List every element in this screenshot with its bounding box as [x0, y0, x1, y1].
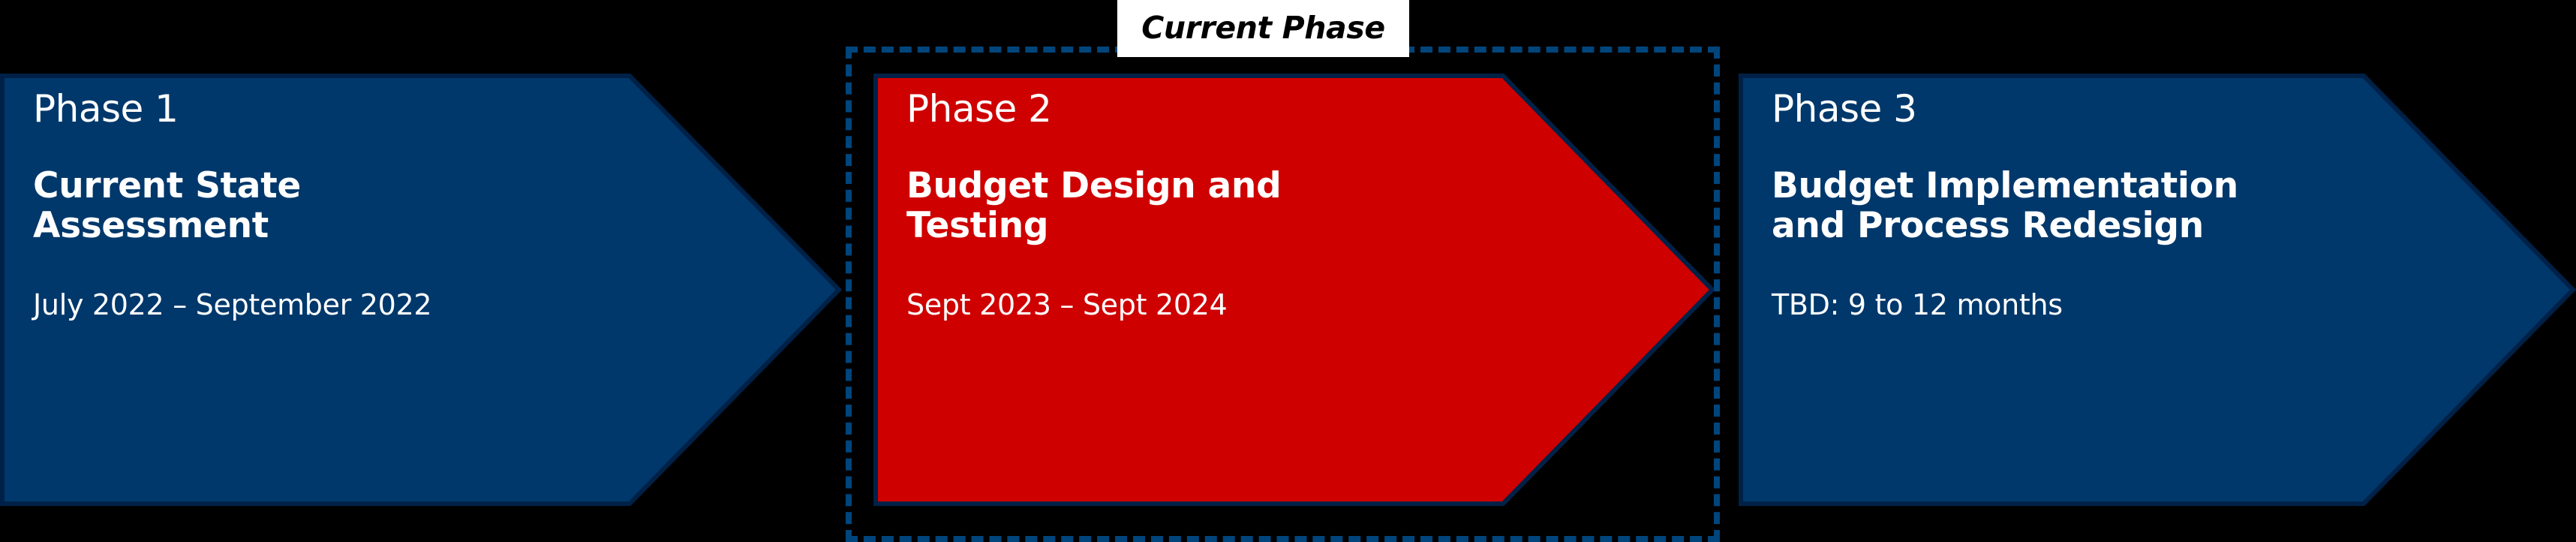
phase-1-title-line-1: Current State	[33, 166, 623, 206]
phase-2-title: Budget Design and Testing	[906, 166, 1496, 245]
phase-3-chevron[interactable]: Phase 3 Budget Implementation and Proces…	[1739, 74, 2576, 506]
phase-2-title-line-1: Budget Design and	[906, 166, 1496, 206]
current-phase-tag-label: Current Phase	[1141, 10, 1385, 46]
phase-1-dates: July 2022 – September 2022	[33, 291, 623, 321]
phase-1-title-line-2: Assessment	[33, 206, 623, 245]
phase-1-content: Phase 1 Current State Assessment July 20…	[0, 74, 623, 506]
phase-1-chevron[interactable]: Phase 1 Current State Assessment July 20…	[0, 74, 842, 506]
phase-1-label: Phase 1	[33, 90, 623, 128]
phase-3-title-line-1: Budget Implementation	[1772, 166, 2361, 206]
phase-3-label: Phase 3	[1772, 90, 2361, 128]
phase-2-title-line-2: Testing	[906, 206, 1496, 245]
phase-2-content: Phase 2 Budget Design and Testing Sept 2…	[873, 74, 1496, 506]
phase-2-label: Phase 2	[906, 90, 1496, 128]
phase-3-dates: TBD: 9 to 12 months	[1772, 291, 2361, 321]
current-phase-tag: Current Phase	[1117, 0, 1409, 57]
phase-1-title: Current State Assessment	[33, 166, 623, 245]
phase-3-title: Budget Implementation and Process Redesi…	[1772, 166, 2361, 245]
phase-3-content: Phase 3 Budget Implementation and Proces…	[1739, 74, 2361, 506]
phase-timeline-diagram: Phase 1 Current State Assessment July 20…	[0, 0, 2576, 525]
phase-2-chevron[interactable]: Phase 2 Budget Design and Testing Sept 2…	[873, 74, 1715, 506]
phase-2-dates: Sept 2023 – Sept 2024	[906, 291, 1496, 321]
phase-3-title-line-2: and Process Redesign	[1772, 206, 2361, 245]
